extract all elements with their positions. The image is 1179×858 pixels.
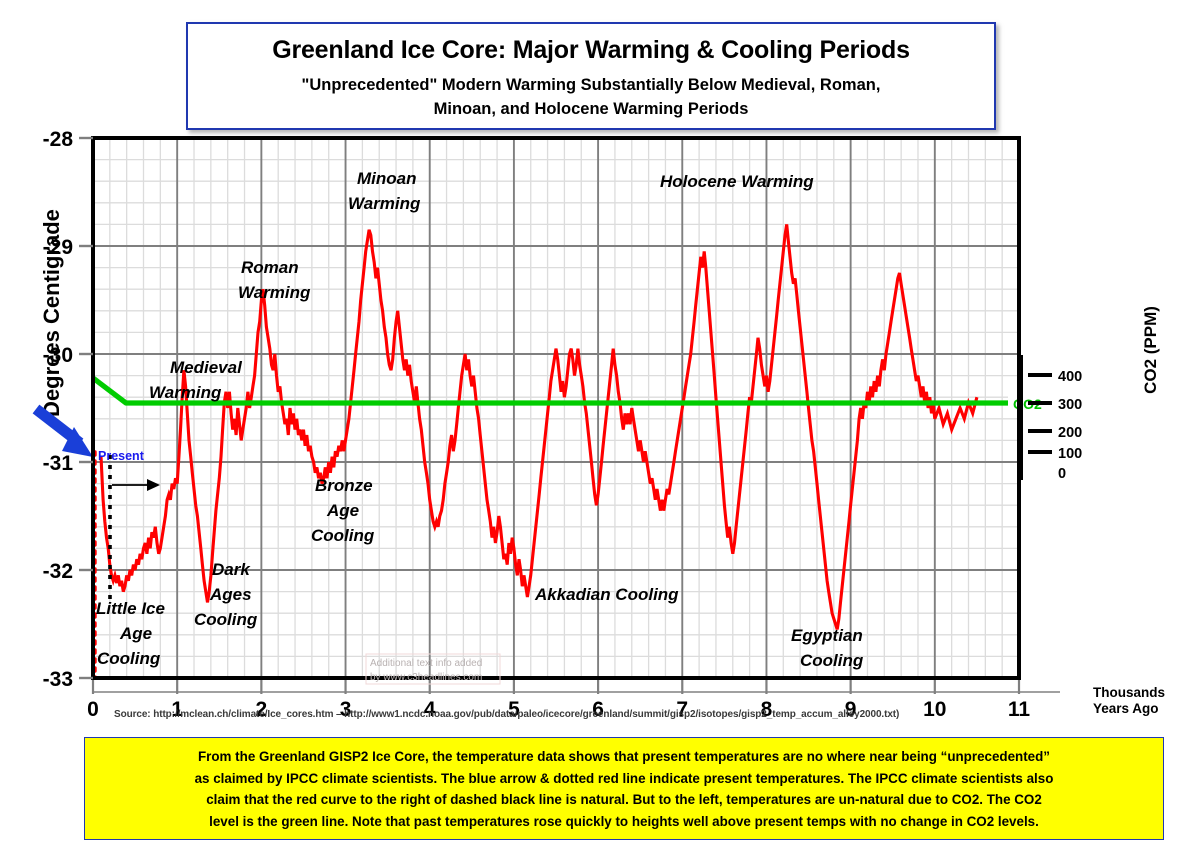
annotation-dark-ages-line-1: Dark (212, 560, 251, 579)
annotation-egyptian-line-1: Egyptian (791, 626, 863, 645)
blue-arrow-icon (36, 409, 93, 457)
co2-axis-tick-label: 300 (1058, 397, 1082, 413)
x-axis-tick-label: 0 (87, 698, 99, 721)
annotation-little-ice-age-line-1: Little Ice (96, 599, 165, 618)
y-axis-left-ticks: -28-29-30-31-32-33 (43, 128, 93, 691)
present-label: Present (98, 449, 145, 463)
annotation-minoan-line-2: Warming (348, 194, 421, 213)
watermark-line-2: by www.c3headlines.com (370, 672, 482, 683)
caption-line-1: From the Greenland GISP2 Ice Core, the t… (97, 746, 1151, 768)
chart-plot-area: CO2 Present -28-29-30-31-32-33 012345678… (0, 0, 1179, 858)
annotation-dark-ages-line-2: Ages (209, 585, 252, 604)
annotation-akkadian: Akkadian Cooling (534, 585, 679, 604)
x-axis-tick-label: 11 (1008, 698, 1031, 721)
annotation-roman-line-2: Warming (238, 283, 311, 302)
y-axis-tick-label: -32 (43, 560, 73, 583)
annotation-medieval-line-2: Warming (149, 383, 222, 402)
annotation-minoan-line-1: Minoan (357, 169, 417, 188)
annotation-dark-ages-line-3: Cooling (194, 610, 258, 629)
annotation-medieval-line-1: Medieval (170, 358, 243, 377)
caption-line-3: claim that the red curve to the right of… (97, 789, 1151, 811)
y-axis-tick-label: -31 (43, 452, 74, 475)
co2-axis-tick-label: 0 (1058, 466, 1066, 482)
x-axis-title-line-2: Years Ago (1093, 701, 1159, 716)
source-citation: Source: http://mclean.ch/climate/Ice_cor… (114, 709, 899, 720)
y-axis-tick-label: -28 (43, 128, 74, 151)
annotation-little-ice-age-line-3: Cooling (97, 649, 161, 668)
annotation-bronze-age-line-1: Bronze (315, 476, 373, 495)
annotation-bronze-age-line-3: Cooling (311, 526, 375, 545)
annotation-egyptian-line-2: Cooling (800, 651, 864, 670)
footer-caption-box: From the Greenland GISP2 Ice Core, the t… (84, 737, 1164, 840)
annotation-roman-line-1: Roman (241, 258, 299, 277)
co2-axis-tick-label: 200 (1058, 425, 1082, 441)
y-axis-right-co2-ticks: 4003002001000 (1021, 355, 1082, 482)
y-axis-tick-label: -33 (43, 668, 73, 691)
co2-axis-tick-label: 100 (1058, 446, 1082, 462)
annotation-little-ice-age-line-2: Age (119, 624, 152, 643)
caption-line-4: level is the green line. Note that past … (97, 811, 1151, 833)
watermark-line-1: Additional text info added (370, 658, 482, 669)
annotation-bronze-age-line-2: Age (326, 501, 359, 520)
annotation-holocene: Holocene Warming (660, 172, 814, 191)
x-axis-title-line-1: Thousands (1093, 685, 1165, 700)
x-axis-tick-label: 10 (923, 698, 946, 721)
y-axis-tick-label: -30 (43, 344, 73, 367)
co2-axis-tick-label: 400 (1058, 369, 1082, 385)
caption-line-2: as claimed by IPCC climate scientists. T… (97, 768, 1151, 790)
y-axis-tick-label: -29 (43, 236, 73, 259)
